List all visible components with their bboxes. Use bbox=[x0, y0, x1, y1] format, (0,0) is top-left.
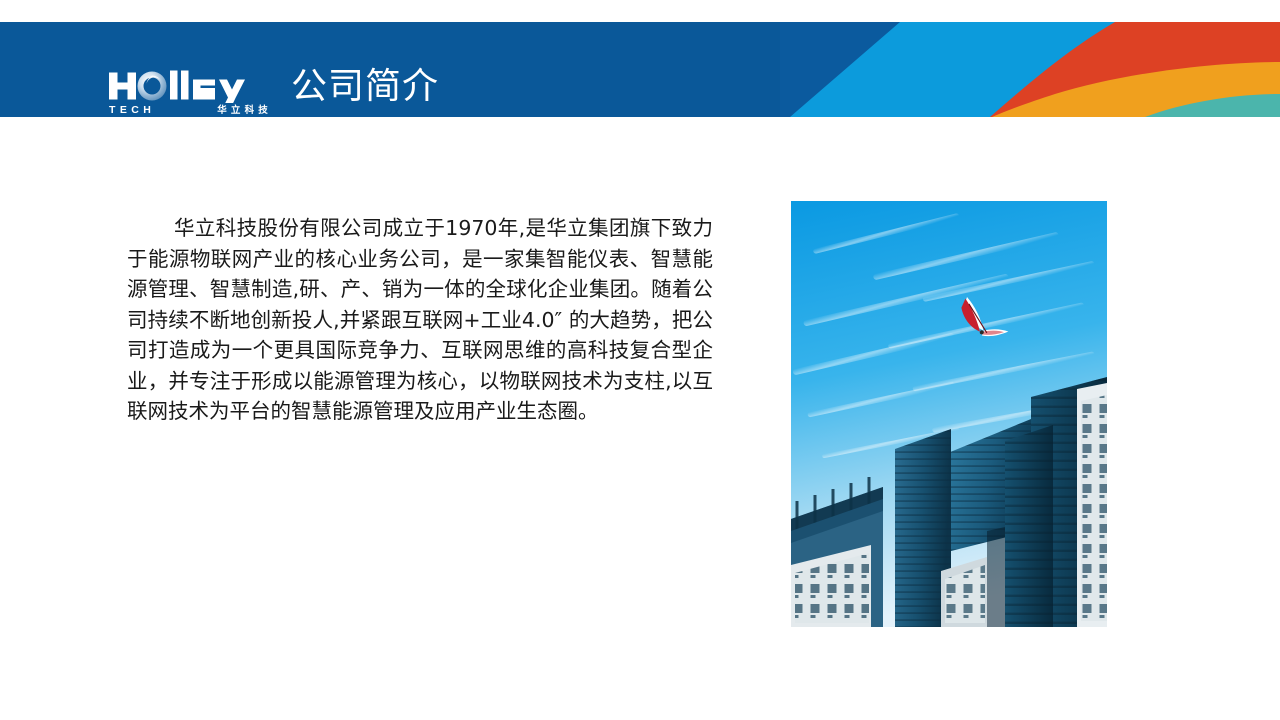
logo-tagline: TECH 华立科技 bbox=[109, 105, 272, 116]
holley-logo: TECH 华立科技 bbox=[108, 69, 273, 117]
logo-tagline-en: TECH bbox=[109, 105, 155, 116]
company-photo bbox=[791, 201, 1107, 627]
holley-wordmark-icon bbox=[108, 69, 268, 103]
header-banner: TECH 华立科技 公司简介 bbox=[0, 22, 1280, 117]
building-white-right bbox=[1077, 383, 1107, 627]
skyscraper-photo-illustration bbox=[791, 201, 1107, 627]
header-swoosh-graphic bbox=[780, 22, 1280, 117]
page-title: 公司简介 bbox=[291, 67, 439, 107]
logo-tagline-cn: 华立科技 bbox=[217, 106, 272, 116]
bridge-shadow bbox=[987, 527, 1005, 627]
building-right-leg bbox=[1005, 425, 1053, 627]
slide-canvas: TECH 华立科技 公司简介 华立科技股份有限公司成立于1970年,是华立集团旗… bbox=[0, 0, 1280, 720]
company-profile-paragraph: 华立科技股份有限公司成立于1970年,是华立集团旗下致力于能源物联网产业的核心业… bbox=[127, 213, 713, 427]
